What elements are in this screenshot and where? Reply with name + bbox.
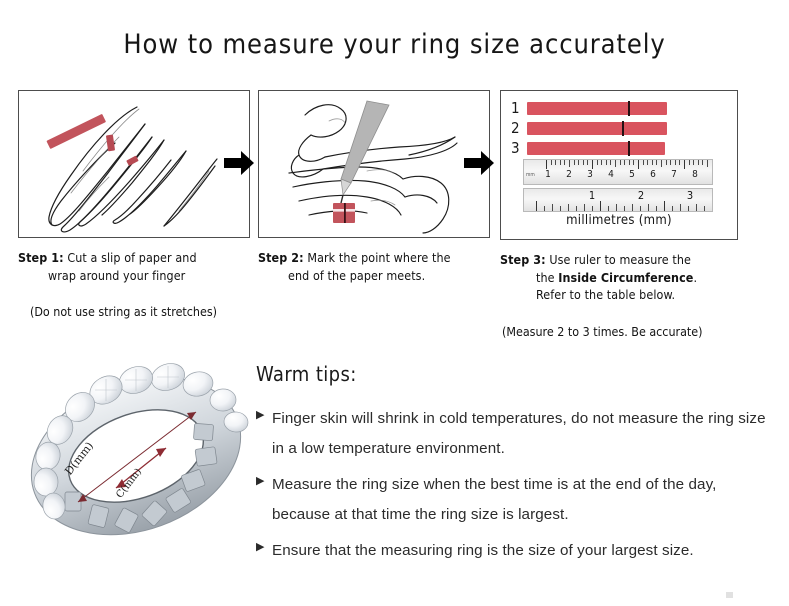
hand-with-paper-strip-illustration <box>19 91 249 237</box>
metric-num-6: 6 <box>650 169 656 180</box>
arrow-right-glyph-2 <box>464 150 494 176</box>
strip-3-number: 3 <box>511 141 527 156</box>
step-1-line-2: wrap around your finger <box>18 267 250 285</box>
step-3-caption: Step 3: Use ruler to measure the the Ins… <box>500 251 738 304</box>
strip-2-bar <box>527 122 667 135</box>
step-3-note: (Measure 2 to 3 times. Be accurate) <box>500 323 738 340</box>
hand-with-pen-illustration <box>259 91 489 237</box>
strip-3-bar <box>527 142 665 155</box>
strip-2-number: 2 <box>511 121 527 136</box>
strip-1-mark <box>628 101 630 116</box>
step-2-line-1: Mark the point where the <box>307 250 450 265</box>
metric-num-1: 1 <box>545 169 551 180</box>
tip-text-1: Finger skin will shrink in cold temperat… <box>272 404 776 464</box>
step-3-label: Step 3: <box>500 252 546 267</box>
page-title: How to measure your ring size accurately <box>0 28 789 62</box>
metric-num-4: 4 <box>608 169 614 180</box>
imperial-num-2: 2 <box>638 190 644 202</box>
metric-num-5: 5 <box>629 169 635 180</box>
imperial-num-1: 1 <box>589 190 595 202</box>
tip-text-3: Ensure that the measuring ring is the si… <box>272 536 776 566</box>
measured-strip-2: 2 <box>511 121 667 135</box>
ring-diagram <box>18 352 258 560</box>
arrow-right-icon <box>224 150 254 176</box>
arrow-right-icon-2 <box>464 150 494 176</box>
step-1-line-1: Cut a slip of paper and <box>67 250 196 265</box>
bullet-triangle-icon-2: ▶ <box>256 470 272 486</box>
step-1-caption: Step 1: Cut a slip of paper and wrap aro… <box>18 249 250 284</box>
step-2-caption: Step 2: Mark the point where the end of … <box>258 249 490 284</box>
imperial-num-3: 3 <box>687 190 693 202</box>
tip-item-1: ▶ Finger skin will shrink in cold temper… <box>256 404 776 464</box>
tip-text-2: Measure the ring size when the best time… <box>272 470 776 530</box>
step-2-column: Step 2: Mark the point where the end of … <box>258 90 490 284</box>
step-2-panel <box>258 90 490 238</box>
pen-shape <box>341 101 389 203</box>
measured-strip-3: 3 <box>511 141 665 155</box>
step-1-panel <box>18 90 250 238</box>
step-3-column: 1 2 3 mm <box>500 90 738 340</box>
step-3-line-1: Use ruler to measure the <box>549 252 691 267</box>
strip-1-bar <box>527 102 667 115</box>
metric-num-7: 7 <box>671 169 677 180</box>
step-3-panel: 1 2 3 mm <box>500 90 738 240</box>
tip-item-2: ▶ Measure the ring size when the best ti… <box>256 470 776 530</box>
paper-strip-on-finger <box>333 203 355 223</box>
bullet-triangle-icon-3: ▶ <box>256 536 272 552</box>
step-2-label: Step 2: <box>258 250 304 265</box>
metric-num-2: 2 <box>566 169 572 180</box>
step-2-line-2: end of the paper meets. <box>258 267 490 285</box>
arrow-right-glyph <box>224 150 254 176</box>
metric-num-8: 8 <box>692 169 698 180</box>
step-1-note: (Do not use string as it stretches) <box>18 303 250 320</box>
metric-ruler: mm <box>523 159 713 185</box>
imperial-ruler: 1 2 3 <box>523 188 713 212</box>
strip-2-mark <box>622 121 624 136</box>
measured-strip-1: 1 <box>511 101 667 115</box>
warm-tips-title: Warm tips: <box>256 362 776 386</box>
ruler-caption: millimetres (mm) <box>501 213 737 228</box>
step-3-line-3: Refer to the table below. <box>500 286 738 304</box>
step-1-label: Step 1: <box>18 250 64 265</box>
steps-row: Step 1: Cut a slip of paper and wrap aro… <box>0 90 789 335</box>
step-3-line-2-prefix: the <box>536 270 558 285</box>
tip-item-3: ▶ Ensure that the measuring ring is the … <box>256 536 776 566</box>
warm-tips-section: Warm tips: ▶ Finger skin will shrink in … <box>256 362 776 572</box>
strip-3-mark <box>628 141 630 156</box>
metric-num-3: 3 <box>587 169 593 180</box>
strip-1-number: 1 <box>511 101 527 116</box>
step-1-column: Step 1: Cut a slip of paper and wrap aro… <box>18 90 250 320</box>
corner-artifact <box>726 592 733 598</box>
bullet-triangle-icon: ▶ <box>256 404 272 420</box>
ring-photo-illustration <box>18 352 258 560</box>
metric-ruler-unit: mm <box>526 172 535 178</box>
inside-circumference-emphasis: Inside Circumference <box>558 270 693 285</box>
step-3-line-2-suffix: . <box>693 270 697 285</box>
paper-strip-shape <box>46 114 106 149</box>
ruler-group: mm <box>523 159 713 212</box>
